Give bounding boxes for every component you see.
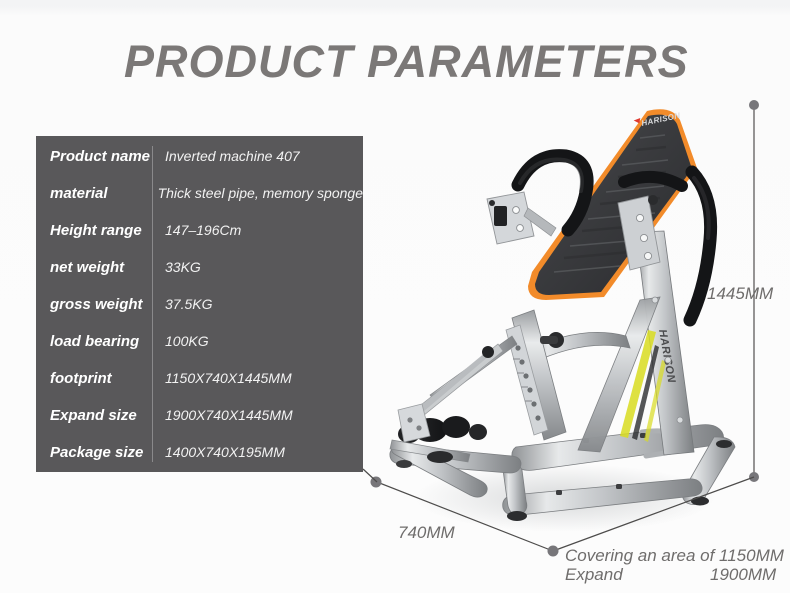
spec-value: 37.5KG — [152, 296, 212, 312]
ankle-holder — [390, 336, 517, 463]
spec-key: gross weight — [36, 296, 152, 313]
spec-value: Thick steel pipe, memory sponge — [145, 185, 363, 201]
backrest-pad: HARISON — [528, 109, 697, 300]
table-row: Product name Inverted machine 407 — [36, 138, 363, 174]
table-row: load bearing 100KG — [36, 323, 363, 359]
pivot-bracket-left — [487, 192, 556, 244]
spec-key: material — [36, 185, 145, 202]
spec-key: footprint — [36, 370, 152, 387]
dimension-label-height: 1445MM — [707, 284, 773, 304]
spec-value: 1400X740X195MM — [152, 444, 285, 460]
spec-key: Product name — [36, 148, 152, 165]
dimension-label-expand: Expand — [565, 565, 623, 585]
table-row: Package size 1400X740X195MM — [36, 434, 363, 470]
dimension-label-width: 740MM — [398, 523, 455, 543]
product-parameters-page: HARISON — [0, 0, 790, 593]
spec-key: net weight — [36, 259, 152, 276]
spec-table: Product name Inverted machine 407 materi… — [36, 136, 363, 472]
table-row: Expand size 1900X740X1445MM — [36, 397, 363, 433]
spec-value: 100KG — [152, 333, 209, 349]
dimension-label-area: Covering an area of 1150MM — [565, 546, 784, 566]
tilt-arm-assembly — [506, 310, 566, 440]
dimension-value-expand: 1900MM — [710, 565, 776, 585]
table-row: footprint 1150X740X1445MM — [36, 360, 363, 396]
spec-value: 147–196Cm — [152, 222, 241, 238]
spec-key: Package size — [36, 444, 152, 461]
spec-value: Inverted machine 407 — [152, 148, 300, 164]
spec-key: Height range — [36, 222, 152, 239]
table-row: gross weight 37.5KG — [36, 286, 363, 322]
table-row: material Thick steel pipe, memory sponge — [36, 175, 363, 211]
spec-key: load bearing — [36, 333, 152, 350]
spec-value: 1150X740X1445MM — [152, 370, 292, 386]
table-row: Height range 147–196Cm — [36, 212, 363, 248]
spec-key: Expand size — [36, 407, 152, 424]
spec-value: 1900X740X1445MM — [152, 407, 293, 423]
page-title: PRODUCT PARAMETERS — [124, 36, 689, 88]
table-row: net weight 33KG — [36, 249, 363, 285]
spec-value: 33KG — [152, 259, 201, 275]
